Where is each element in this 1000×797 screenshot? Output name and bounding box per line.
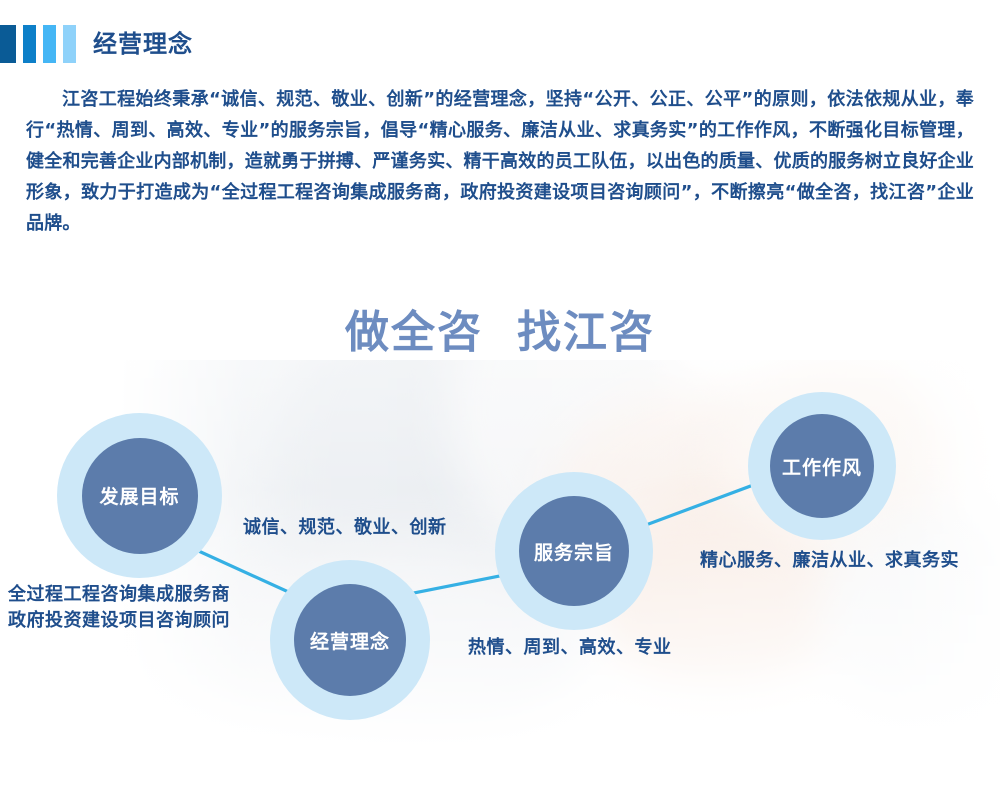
caption-development-goal-line-1: 全过程工程咨询集成服务商 bbox=[8, 582, 230, 608]
intro-paragraph: 江咨工程始终秉承“诚信、规范、敬业、创新”的经营理念，坚持“公开、公正、公平”的… bbox=[26, 84, 974, 239]
node-development-goal-core: 发展目标 bbox=[82, 438, 198, 554]
accent-bars bbox=[0, 25, 83, 63]
caption-development-goal: 全过程工程咨询集成服务商 政府投资建设项目咨询顾问 bbox=[8, 582, 230, 634]
accent-bar-2 bbox=[23, 25, 36, 63]
slogan: 做全咨找江咨 bbox=[0, 296, 1000, 360]
node-development-goal[interactable]: 发展目标 bbox=[57, 413, 222, 578]
accent-bar-4 bbox=[63, 25, 76, 63]
node-service-purpose[interactable]: 服务宗旨 bbox=[495, 472, 653, 630]
caption-business-philosophy: 诚信、规范、敬业、创新 bbox=[243, 515, 447, 541]
caption-development-goal-line-2: 政府投资建设项目咨询顾问 bbox=[8, 608, 230, 634]
node-service-purpose-label: 服务宗旨 bbox=[534, 538, 614, 565]
node-service-purpose-core: 服务宗旨 bbox=[519, 496, 629, 606]
slogan-part-2: 找江咨 bbox=[517, 307, 655, 358]
section-header: 经营理念 bbox=[0, 22, 193, 66]
node-work-style-core: 工作作风 bbox=[770, 414, 874, 518]
node-work-style-label: 工作作风 bbox=[782, 453, 862, 480]
node-business-philosophy-core: 经营理念 bbox=[294, 584, 406, 696]
connector-path bbox=[192, 478, 772, 610]
accent-bar-1 bbox=[0, 25, 16, 63]
node-business-philosophy-label: 经营理念 bbox=[310, 627, 390, 654]
page-root: 经营理念 江咨工程始终秉承“诚信、规范、敬业、创新”的经营理念，坚持“公开、公正… bbox=[0, 0, 1000, 797]
accent-bar-3 bbox=[43, 25, 56, 63]
node-work-style[interactable]: 工作作风 bbox=[748, 392, 896, 540]
node-business-philosophy[interactable]: 经营理念 bbox=[270, 560, 430, 720]
concept-diagram: 发展目标 经营理念 服务宗旨 工作作风 全过程工程咨询集成服务商 政府投资建设项… bbox=[0, 360, 1000, 797]
caption-service-purpose: 热情、周到、高效、专业 bbox=[468, 635, 672, 661]
node-development-goal-label: 发展目标 bbox=[99, 482, 179, 509]
slogan-part-1: 做全咨 bbox=[345, 307, 483, 358]
caption-work-style: 精心服务、廉洁从业、求真务实 bbox=[700, 548, 959, 574]
page-title: 经营理念 bbox=[93, 25, 193, 63]
